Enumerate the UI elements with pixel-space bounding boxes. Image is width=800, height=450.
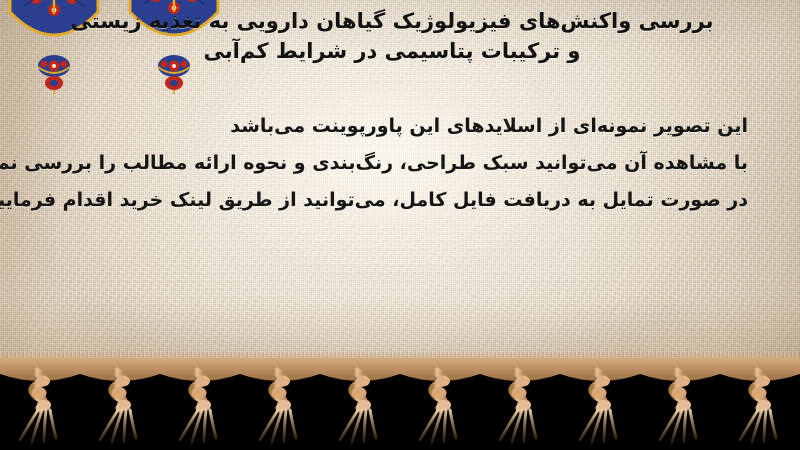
slide-title-line-2: و ترکیبات پتاسیمی در شرایط کم‌آبی bbox=[42, 36, 742, 66]
slide-title: بررسی واکنش‌های فیزیولوژیک گیاهان دارویی… bbox=[42, 6, 742, 66]
slide-body-line-1: این تصویر نمونه‌ای از اسلایدهای این پاور… bbox=[48, 108, 748, 145]
slide-body: این تصویر نمونه‌ای از اسلایدهای این پاور… bbox=[48, 108, 748, 219]
carpet-fringe-tassels-icon bbox=[0, 358, 800, 450]
slide-title-line-1: بررسی واکنش‌های فیزیولوژیک گیاهان دارویی… bbox=[42, 6, 742, 36]
slide-text-layer: بررسی واکنش‌های فیزیولوژیک گیاهان دارویی… bbox=[0, 0, 800, 372]
slide-canvas: بررسی واکنش‌های فیزیولوژیک گیاهان دارویی… bbox=[0, 0, 800, 450]
slide-body-line-3: در صورت تمایل به دریافت فایل کامل، می‌تو… bbox=[48, 182, 748, 219]
slide-body-line-2: با مشاهده آن می‌توانید سبک طراحی، رنگ‌بن… bbox=[48, 145, 748, 182]
